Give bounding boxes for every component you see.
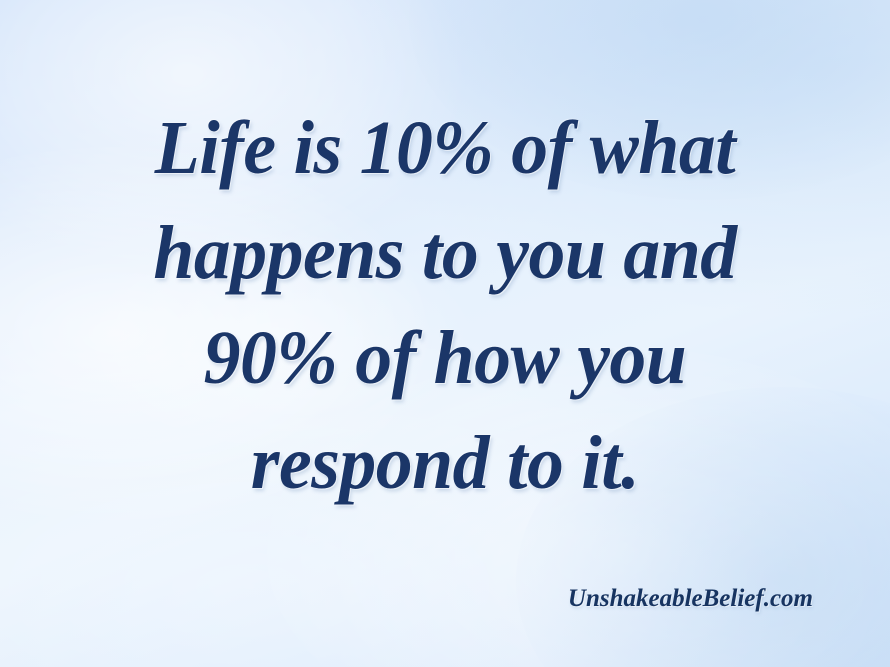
quote-line-4: respond to it. [33,411,858,516]
quote-line-2: happens to you and [33,201,858,306]
quote-text-block: Life is 10% of what happens to you and 9… [0,96,890,516]
quote-poster: Life is 10% of what happens to you and 9… [0,0,890,667]
attribution-watermark: UnshakeableBelief.com [568,584,813,614]
quote-line-3: 90% of how you [33,306,858,411]
quote-line-1: Life is 10% of what [33,96,858,201]
